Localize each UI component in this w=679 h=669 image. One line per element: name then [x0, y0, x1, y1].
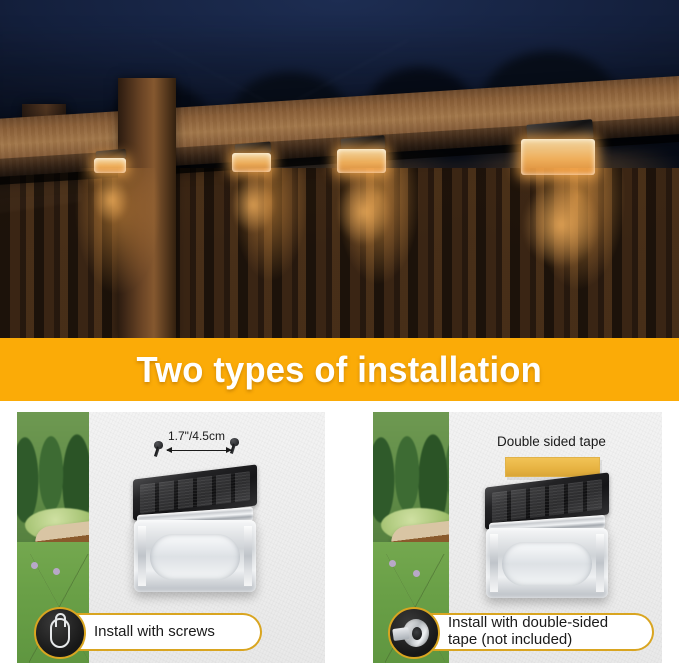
- lamp-body: [134, 520, 256, 592]
- tape-glyph: [397, 619, 431, 647]
- body-edge-right: [596, 534, 604, 592]
- installation-panels: 1.7"/4.5cm: [0, 401, 679, 669]
- badge-pill: Install with screws: [60, 613, 262, 651]
- screw-icon: [34, 607, 86, 659]
- allium-bud: [53, 568, 60, 575]
- body-lens: [502, 542, 592, 586]
- body-edge-left: [490, 534, 498, 592]
- dimension-label: 1.7"/4.5cm: [168, 429, 225, 443]
- badge-label: Install with double-sided tape (not incl…: [448, 615, 608, 649]
- dimension-arrow: [167, 450, 231, 451]
- hero-night-photo: [0, 0, 679, 338]
- body-edge-right: [244, 526, 252, 586]
- light-beam: [511, 170, 611, 280]
- allium-bud: [389, 560, 396, 567]
- allium-bud: [31, 562, 38, 569]
- light-beam: [225, 169, 281, 241]
- light-beam: [88, 170, 134, 230]
- product-feature-image: Two types of installation: [0, 0, 679, 669]
- tape-roll-icon: [388, 607, 440, 659]
- badge-pill: Install with double-sided tape (not incl…: [414, 613, 654, 651]
- tape-strip-end: [392, 627, 410, 641]
- lamp-body: [486, 528, 608, 598]
- light-beam: [329, 169, 399, 255]
- tape-annotation-label: Double sided tape: [497, 434, 606, 449]
- screw-left-icon: [154, 441, 163, 457]
- screw-glyph: [50, 618, 70, 648]
- body-lens: [150, 534, 240, 580]
- headline-banner: Two types of installation: [0, 338, 679, 401]
- body-edge-left: [138, 526, 146, 586]
- allium-bud: [413, 570, 420, 577]
- banner-title: Two types of installation: [137, 349, 542, 391]
- badge-label: Install with screws: [94, 624, 215, 641]
- double-sided-tape-strip: [505, 457, 600, 477]
- tape-core-hole: [412, 627, 422, 640]
